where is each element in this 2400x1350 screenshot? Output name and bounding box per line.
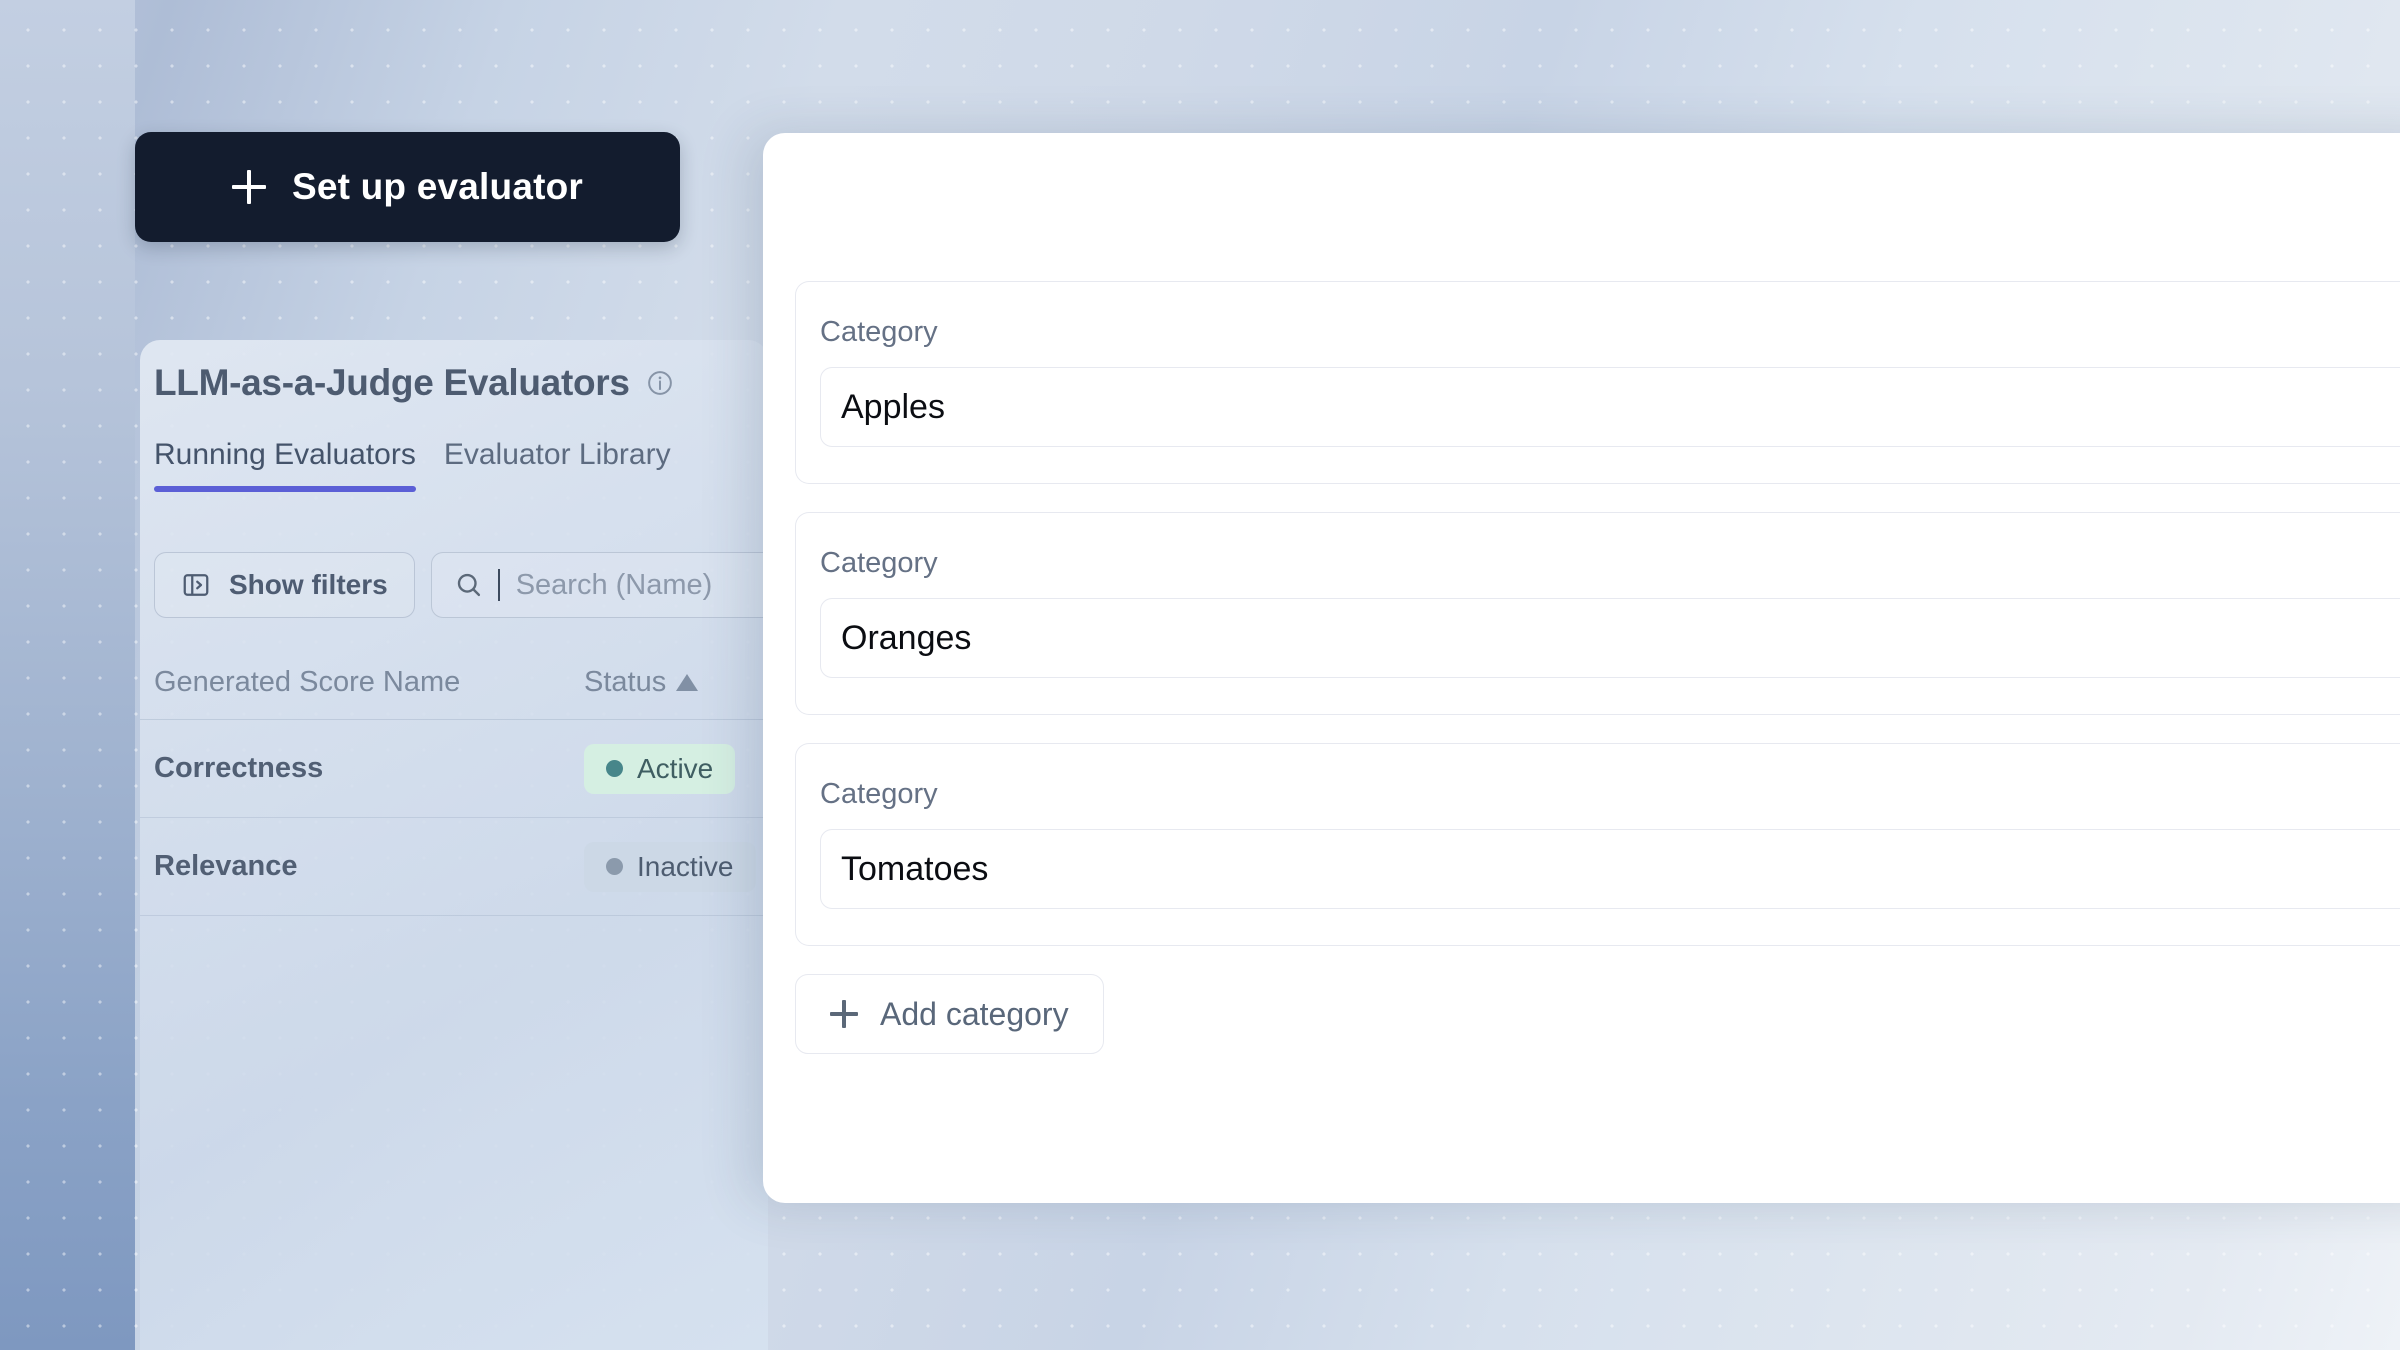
add-category-button[interactable]: Add category: [795, 974, 1104, 1054]
info-circle-icon[interactable]: [646, 369, 674, 397]
search-text-caret: [498, 569, 500, 601]
evaluators-panel: LLM-as-a-Judge Evaluators Running Evalua…: [140, 340, 768, 1350]
status-badge: Inactive: [584, 842, 756, 892]
status-dot-icon: [606, 858, 623, 875]
plus-icon: [830, 1000, 858, 1028]
tab-running-evaluators-label: Running Evaluators: [154, 438, 416, 471]
add-category-label: Add category: [880, 996, 1069, 1033]
setup-evaluator-label: Set up evaluator: [292, 166, 583, 208]
score-categories-list: Category Apples Category Oranges Categor…: [795, 281, 2400, 1054]
column-header-status-label: Status: [584, 666, 666, 699]
tab-running-evaluators[interactable]: Running Evaluators: [154, 438, 416, 492]
tab-evaluator-library[interactable]: Evaluator Library: [444, 438, 671, 492]
sort-ascending-icon: [676, 674, 698, 691]
category-field-label: Category: [820, 778, 2400, 811]
plus-icon: [232, 170, 266, 204]
show-filters-button[interactable]: Show filters: [154, 552, 415, 618]
category-input[interactable]: Apples: [820, 367, 2400, 447]
table-row[interactable]: Correctness Active: [140, 720, 768, 818]
status-badge-label: Active: [637, 753, 713, 785]
column-header-status[interactable]: Status: [584, 666, 754, 699]
evaluators-table: Generated Score Name Status Correctness …: [140, 646, 768, 916]
row-score-name: Correctness: [154, 752, 584, 785]
evaluators-toolbar: Show filters Search (Name): [154, 552, 768, 618]
status-badge-label: Inactive: [637, 851, 734, 883]
status-badge: Active: [584, 744, 735, 794]
tab-evaluator-library-label: Evaluator Library: [444, 438, 671, 471]
setup-evaluator-button[interactable]: Set up evaluator: [135, 132, 680, 242]
row-status-cell: Active: [584, 744, 754, 794]
status-dot-icon: [606, 760, 623, 777]
category-input[interactable]: Tomatoes: [820, 829, 2400, 909]
table-header-row: Generated Score Name Status: [140, 646, 768, 720]
left-rail: [0, 0, 135, 1350]
search-placeholder: Search (Name): [516, 569, 713, 602]
category-field-label: Category: [820, 547, 2400, 580]
panel-left-expand-icon: [181, 570, 211, 600]
row-score-name: Relevance: [154, 850, 584, 883]
search-icon: [454, 570, 484, 600]
show-filters-label: Show filters: [229, 569, 388, 601]
category-card: Category Oranges: [795, 512, 2400, 715]
search-input[interactable]: Search (Name): [431, 552, 768, 618]
category-input[interactable]: Oranges: [820, 598, 2400, 678]
evaluators-title-row: LLM-as-a-Judge Evaluators: [154, 362, 674, 404]
evaluator-tabs: Running Evaluators Evaluator Library: [154, 438, 671, 492]
page-title: LLM-as-a-Judge Evaluators: [154, 362, 630, 404]
row-status-cell: Inactive: [584, 842, 756, 892]
table-row[interactable]: Relevance Inactive: [140, 818, 768, 916]
category-card: Category Tomatoes: [795, 743, 2400, 946]
column-header-generated-score-name[interactable]: Generated Score Name: [154, 666, 584, 699]
left-rail-dot-grid: [0, 0, 135, 1350]
category-field-label: Category: [820, 316, 2400, 349]
score-categories-modal: Score Categories Category Apples Categor…: [763, 133, 2400, 1203]
category-card: Category Apples: [795, 281, 2400, 484]
